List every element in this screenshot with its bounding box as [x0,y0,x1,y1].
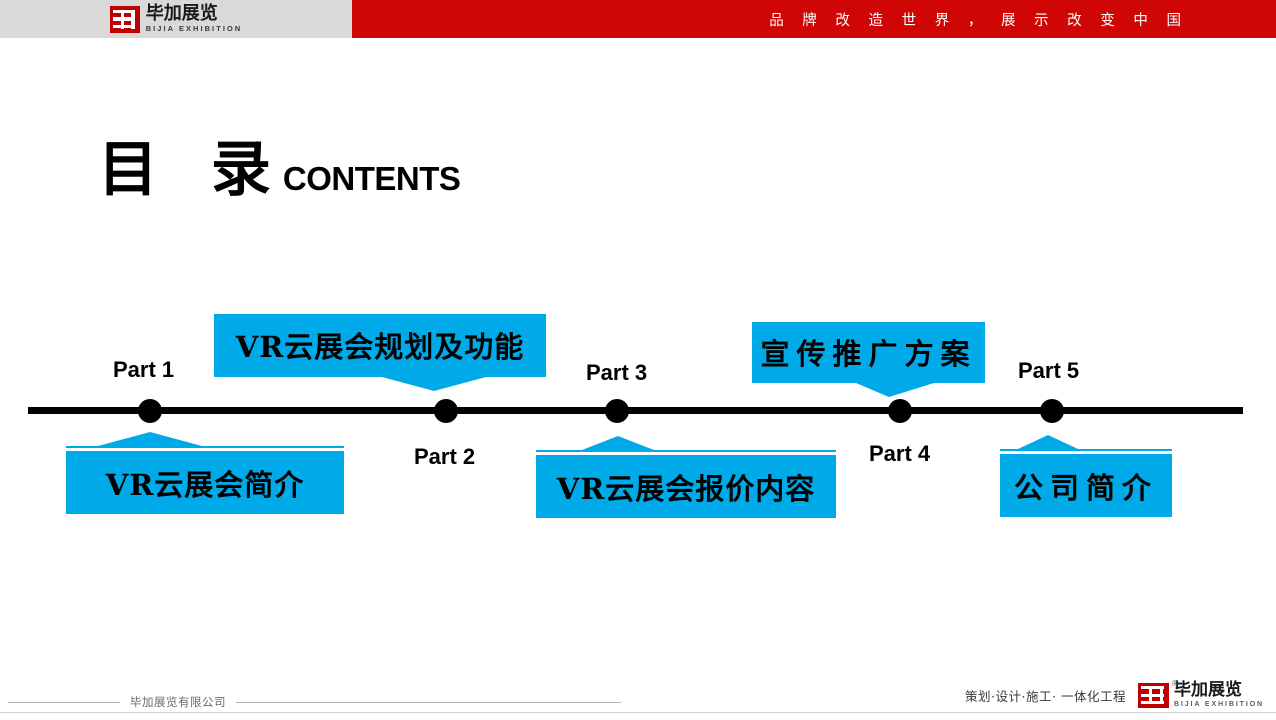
callout-box-3: VR云展会报价内容 [536,455,836,518]
timeline-callout-3[interactable]: VR云展会报价内容 [536,436,836,518]
callout-box-5: 公司简介 [1000,454,1172,517]
header-banner: 品 牌 改 造 世 界 ， 展 示 改 变 中 国 [352,0,1276,38]
bijia-logo-mark-icon [1138,683,1169,708]
callout-box-1: VR云展会简介 [66,451,344,514]
callout-notch-up-icon [536,436,836,452]
callout-box-4: 宣传推广方案 [752,322,985,382]
footer-bottom-divider [0,712,1276,713]
footer-brand-name-en: BIJIA EXHIBITION [1174,701,1264,708]
callout-box-2: VR云展会规划及功能 [214,314,546,376]
header-slogan: 品 牌 改 造 世 界 ， 展 示 改 变 中 国 [769,9,1188,30]
part-label-1: Part 1 [113,357,174,383]
callout-label-2: VR云展会规划及功能 [236,324,525,366]
callout-label-5: 公司简介 [1014,465,1158,507]
timeline-dot-5[interactable] [1040,399,1064,423]
callout-notch-down-icon [752,381,985,397]
timeline-callout-5[interactable]: 公司简介 [1000,435,1172,517]
brand-name-en: BIJIA EXHIBITION [146,25,243,32]
footer-left: 毕加展览有限公司 [0,690,640,714]
header-logo-area: 毕加展览 BIJIA EXHIBITION [0,0,352,38]
brand-logo-text: 毕加展览 BIJIA EXHIBITION [146,5,243,32]
footer-brand-logo-text: 毕加展览 BIJIA EXHIBITION [1174,682,1264,708]
part-label-5: Part 5 [1018,358,1079,384]
footer-tagline: 策划·设计·施工· 一体化工程 [965,686,1126,705]
timeline-dot-1[interactable] [138,399,162,423]
footer-brand-name-cn: 毕加展览 [1174,682,1264,699]
registered-trademark-icon: ® [1172,679,1178,688]
page-header: 毕加展览 BIJIA EXHIBITION 品 牌 改 造 世 界 ， 展 示 … [0,0,1276,38]
part-label-2: Part 2 [414,444,475,470]
footer-divider-right [236,702,621,703]
timeline-callout-4[interactable]: 宣传推广方案 [752,322,985,402]
callout-notch-up-icon [66,432,344,448]
page-title: 目 录 CONTENTS [98,140,460,200]
brand-name-cn: 毕加展览 [146,5,243,23]
part-label-3: Part 3 [586,360,647,386]
callout-label-3: VR云展会报价内容 [557,466,816,508]
footer-brand-logo: ® 毕加展览 BIJIA EXHIBITION [1138,682,1264,708]
brand-logo: 毕加展览 BIJIA EXHIBITION [110,5,243,32]
page-title-en: CONTENTS [283,160,461,198]
timeline-dot-2[interactable] [434,399,458,423]
timeline-callout-2[interactable]: VR云展会规划及功能 [214,314,546,396]
timeline-callout-1[interactable]: VR云展会简介 [66,432,344,514]
footer-company-name: 毕加展览有限公司 [130,694,226,710]
timeline-dot-4[interactable] [888,399,912,423]
callout-notch-up-icon [1000,435,1172,451]
callout-label-4: 宣传推广方案 [760,331,976,373]
footer-divider-left [8,702,120,703]
callout-label-1: VR云展会简介 [106,462,305,504]
bijia-logo-mark-icon [110,6,140,33]
footer-right: 策划·设计·施工· 一体化工程 ® 毕加展览 BIJIA EXHIBITION [965,678,1264,712]
page-title-cn: 目 录 [98,140,287,200]
callout-notch-down-icon [214,375,546,391]
part-label-4: Part 4 [869,441,930,467]
timeline-dot-3[interactable] [605,399,629,423]
